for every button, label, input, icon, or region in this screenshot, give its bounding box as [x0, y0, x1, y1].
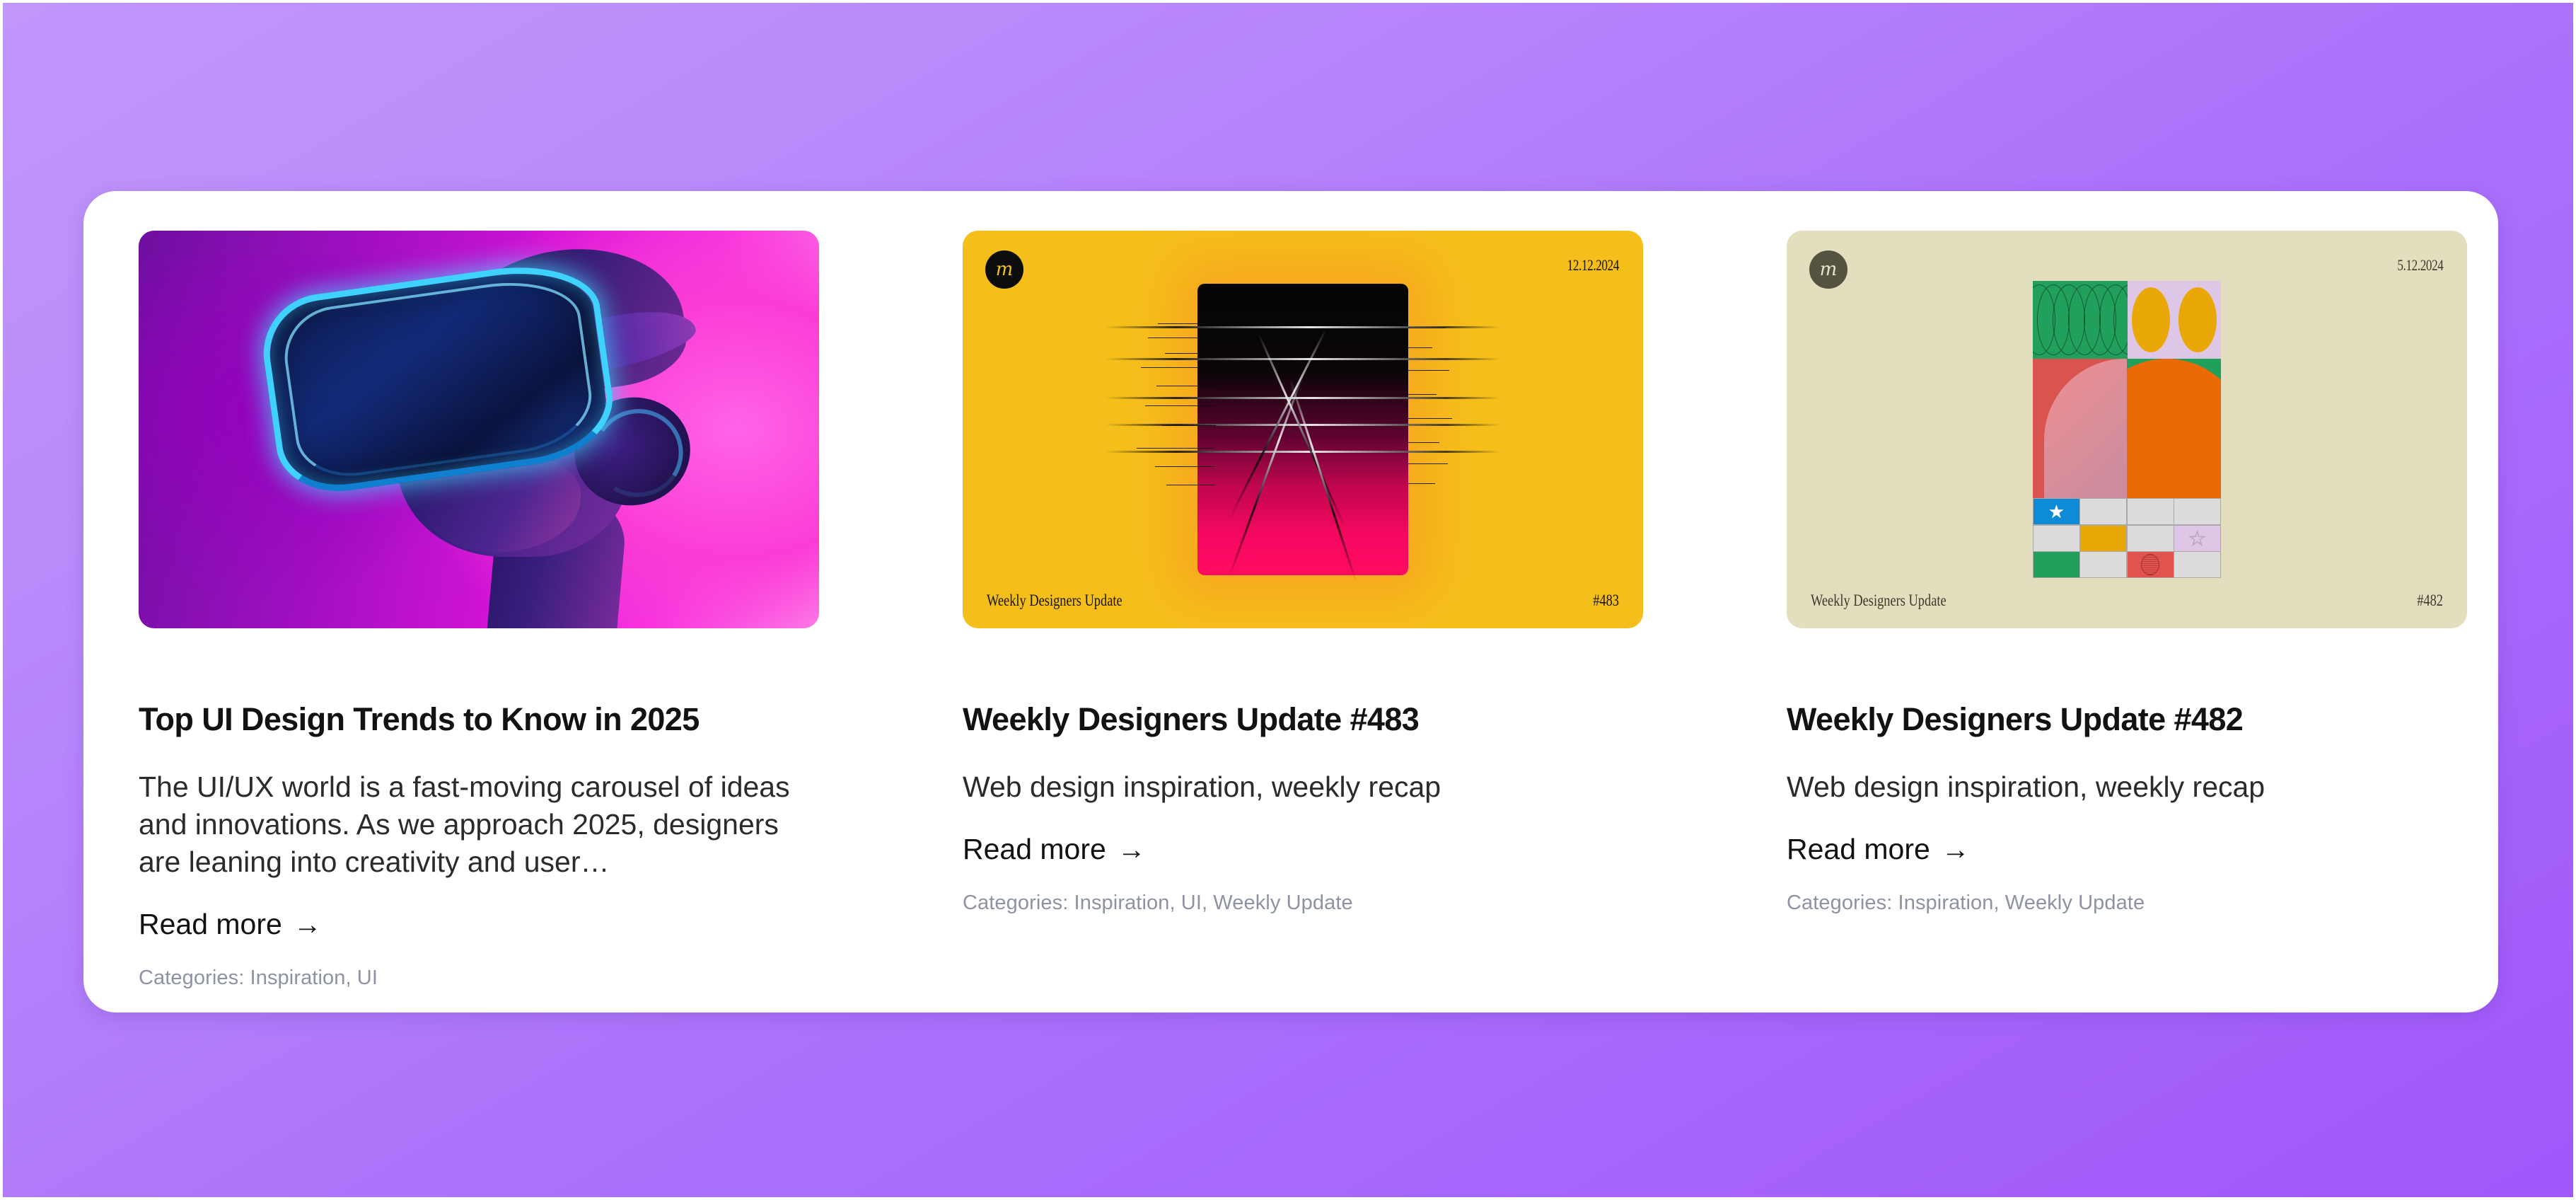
read-more-label: Read more	[963, 833, 1106, 866]
brand-badge-icon: m	[985, 250, 1023, 289]
grid-cell	[2080, 499, 2126, 524]
glitch-streak	[1105, 451, 1501, 453]
card-categories: Categories: Inspiration, UI	[139, 967, 819, 990]
poster-canvas: m 5.12.2024	[1787, 231, 2467, 628]
glitch-hairline	[1408, 394, 1437, 395]
glitch-hairline	[1141, 367, 1214, 368]
grid-cell: ★	[2174, 526, 2220, 551]
glitch-hairline	[1408, 418, 1452, 419]
geo-row-middle	[2033, 359, 2221, 498]
card-title: Weekly Designers Update #482	[1787, 702, 2467, 737]
grid-cell	[2080, 552, 2126, 577]
brand-badge-icon: m	[1809, 250, 1847, 289]
poster-artwork-glitch	[1197, 284, 1408, 575]
card-thumbnail-vr-headset[interactable]	[139, 231, 819, 628]
card-excerpt: The UI/UX world is a fast-moving carouse…	[139, 768, 819, 881]
glitch-hairline	[1156, 386, 1216, 386]
grid-cell	[2128, 499, 2174, 524]
glitch-streak	[1105, 358, 1501, 360]
read-more-link[interactable]: Read more →	[139, 908, 322, 941]
grid-cell	[2128, 552, 2174, 577]
glitch-hairline	[1408, 483, 1435, 484]
grid-cell	[2033, 552, 2079, 577]
arrow-right-icon: →	[1942, 836, 1970, 864]
glitch-hairline	[1165, 353, 1214, 354]
geo-green-arch-panel	[2127, 359, 2221, 498]
geo-row-top	[2033, 281, 2221, 359]
glitch-hairline	[1408, 347, 1432, 348]
card-excerpt: Web design inspiration, weekly recap	[963, 768, 1643, 806]
blog-cards-panel: Top UI Design Trends to Know in 2025 The…	[83, 191, 2498, 1012]
oval-shape	[2132, 287, 2170, 352]
card-thumbnail-glitch-poster[interactable]: m 12.12.2024	[963, 231, 1643, 628]
geo-green-rings-panel	[2033, 281, 2128, 359]
blog-card[interactable]: Top UI Design Trends to Know in 2025 The…	[139, 231, 819, 990]
arrow-right-icon: →	[294, 911, 322, 939]
geo-row-grid: ★ ★	[2033, 498, 2221, 578]
page-background: Top UI Design Trends to Know in 2025 The…	[3, 3, 2573, 1197]
glitch-hairline	[1408, 328, 1445, 328]
glitch-hairline	[1137, 448, 1214, 449]
glitch-streak	[1105, 397, 1501, 399]
glitch-hairline	[1158, 323, 1214, 324]
card-categories: Categories: Inspiration, UI, Weekly Upda…	[963, 892, 1643, 915]
glitch-hairline	[1162, 425, 1216, 426]
arrow-right-icon: →	[1118, 836, 1146, 864]
card-title: Weekly Designers Update #483	[963, 702, 1643, 737]
poster-footer-label: Weekly Designers Update	[987, 592, 1122, 610]
blog-card[interactable]: m 12.12.2024	[963, 231, 1643, 990]
poster-footer-label: Weekly Designers Update	[1811, 592, 1946, 610]
stamp-icon	[2141, 554, 2159, 575]
read-more-link[interactable]: Read more →	[963, 833, 1146, 866]
glitch-hairline	[1408, 442, 1439, 443]
grid-cell	[2033, 526, 2079, 551]
read-more-label: Read more	[139, 908, 282, 941]
card-title: Top UI Design Trends to Know in 2025	[139, 702, 819, 737]
glitch-hairline	[1148, 337, 1216, 338]
arch-shape	[2127, 359, 2221, 498]
read-more-link[interactable]: Read more →	[1787, 833, 1970, 866]
glitch-hairline	[1145, 405, 1214, 406]
blog-card[interactable]: m 5.12.2024	[1787, 231, 2467, 990]
poster-date: 12.12.2024	[1567, 256, 1619, 275]
poster-date: 5.12.2024	[2397, 256, 2443, 275]
blog-card-grid: Top UI Design Trends to Know in 2025 The…	[139, 231, 2443, 990]
read-more-label: Read more	[1787, 833, 1930, 866]
geo-red-arch-panel	[2033, 359, 2127, 498]
grid-cell	[2174, 552, 2220, 577]
poster-issue-number: #483	[1593, 592, 1619, 610]
oval-shape	[2178, 287, 2217, 352]
glitch-hairline	[1408, 463, 1448, 464]
card-excerpt: Web design inspiration, weekly recap	[1787, 768, 2467, 806]
card-thumbnail-geometric-poster[interactable]: m 5.12.2024	[1787, 231, 2467, 628]
geo-lilac-ovals-panel	[2128, 281, 2221, 359]
poster-canvas: m 12.12.2024	[963, 231, 1643, 628]
grid-cell	[2174, 499, 2220, 524]
glitch-hairline	[1408, 370, 1449, 371]
poster-artwork-geometric: ★ ★	[2033, 281, 2221, 578]
glitch-hairline	[1155, 466, 1216, 467]
poster-issue-number: #482	[2417, 592, 2443, 610]
grid-cell: ★	[2033, 499, 2079, 524]
glitch-hairline	[1166, 485, 1216, 485]
star-outline-icon: ★	[2189, 529, 2205, 548]
grid-cell	[2128, 526, 2174, 551]
arch-shape	[2044, 359, 2127, 498]
card-categories: Categories: Inspiration, Weekly Update	[1787, 892, 2467, 915]
grid-cell	[2080, 526, 2126, 551]
star-icon: ★	[2048, 502, 2065, 521]
